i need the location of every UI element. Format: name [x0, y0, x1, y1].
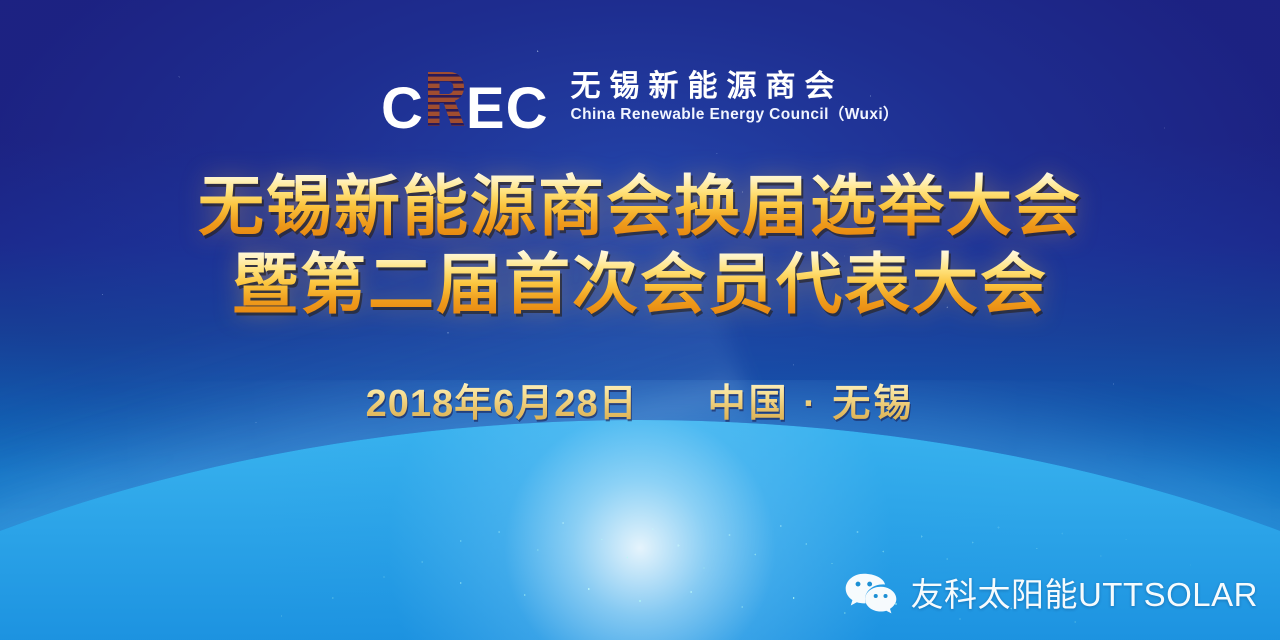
watermark-label: 友科太阳能UTTSOLAR [910, 578, 1258, 611]
title-line-2: 暨第二届首次会员代表大会 [0, 246, 1280, 324]
event-meta: 2018年6月28日 中国 · 无锡 [0, 372, 1280, 427]
wechat-icon [844, 572, 898, 616]
logo-lockup: C [0, 68, 1280, 136]
crec-letter-r-striped-icon [425, 70, 465, 128]
logo-name-cn: 无锡新能源商会 [570, 72, 898, 102]
crec-wordmark: C [381, 70, 548, 138]
main-title-block: 无锡新能源商会换届选举大会 暨第二届首次会员代表大会 [0, 168, 1280, 324]
title-line-1: 无锡新能源商会换届选举大会 [0, 168, 1280, 246]
crec-letters-ec: EC [466, 80, 549, 138]
wechat-watermark: 友科太阳能UTTSOLAR [844, 572, 1258, 616]
poster-banner: C [0, 0, 1280, 640]
crec-letter-c1: C [381, 80, 424, 138]
logo-text-block: 无锡新能源商会 China Renewable Energy Council（W… [570, 68, 898, 123]
event-date: 2018年6月28日 [366, 372, 638, 427]
logo-name-en: China Renewable Energy Council（Wuxi） [570, 107, 898, 123]
event-location: 中国 · 无锡 [708, 372, 915, 427]
